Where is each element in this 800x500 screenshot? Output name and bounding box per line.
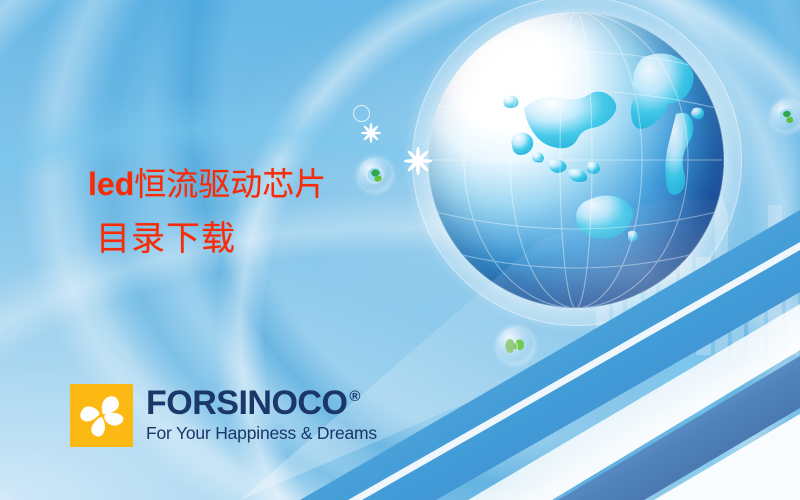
bubble-outline (353, 105, 370, 122)
headline-latin-part: led (88, 166, 134, 202)
brand-tagline: For Your Happiness & Dreams (146, 423, 377, 444)
sparkle-flower-small-icon (361, 123, 381, 143)
brand-text: FORSINOCO® For Your Happiness & Dreams (146, 387, 377, 444)
headline-cjk-part: 恒流驱动芯片 (134, 166, 326, 202)
brand-logo: FORSINOCO® For Your Happiness & Dreams (70, 384, 377, 447)
sparkle-flower-large-icon (404, 147, 432, 175)
bubble-corner (771, 100, 800, 132)
brand-name: FORSINOCO (146, 387, 347, 420)
headline-line-2: 目录下载 (96, 220, 326, 260)
brand-name-row: FORSINOCO® (146, 387, 377, 420)
bubble-globe (358, 158, 392, 192)
mini-globe-icon (771, 100, 800, 132)
mini-globe-icon (358, 158, 392, 192)
headline-line-1: led恒流驱动芯片 (88, 166, 326, 204)
slide-canvas: led恒流驱动芯片 目录下载 FORSINOCO® For Your Happi… (0, 0, 800, 500)
slide-headline: led恒流驱动芯片 目录下载 (88, 166, 326, 260)
registered-mark-icon: ® (349, 389, 360, 404)
four-petal-pinwheel-icon (70, 384, 133, 447)
